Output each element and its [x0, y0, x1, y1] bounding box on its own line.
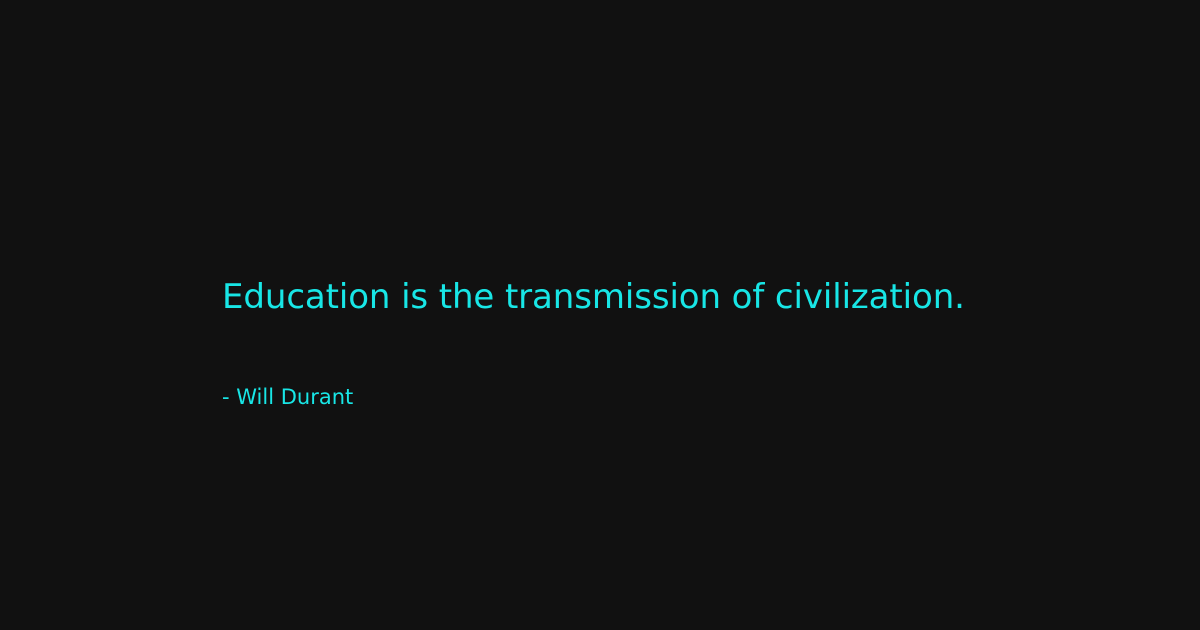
quote-text: Education is the transmission of civiliz…: [222, 276, 1122, 320]
quote-block: Education is the transmission of civiliz…: [222, 276, 1122, 320]
quote-card: Education is the transmission of civiliz…: [0, 0, 1200, 630]
quote-attribution: - Will Durant: [222, 384, 353, 411]
